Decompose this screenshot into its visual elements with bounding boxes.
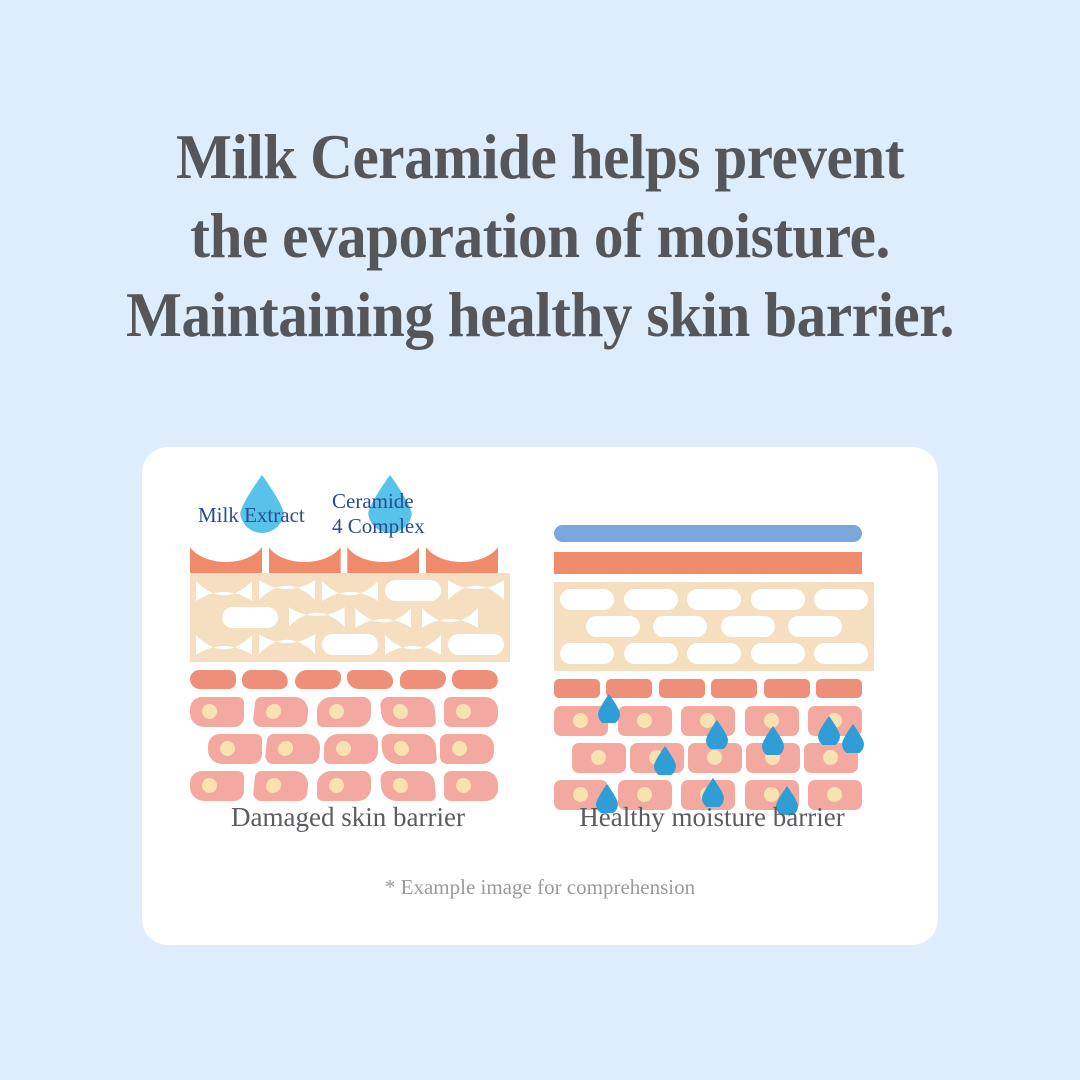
granular-cell — [422, 607, 478, 628]
granular-cell — [385, 634, 441, 655]
basal-cell — [252, 771, 309, 801]
cell-nucleus — [220, 741, 235, 756]
cell-nucleus — [700, 713, 715, 728]
ingredient-label-ceramide-line2: 4 Complex — [332, 514, 425, 538]
footnote-text: * Example image for comprehension — [142, 875, 938, 900]
basal-row — [554, 743, 862, 773]
spinous-cell — [242, 670, 290, 689]
ingredient-ceramide-4-complex: Ceramide 4 Complex — [330, 467, 480, 553]
cell-nucleus — [277, 741, 294, 756]
granular-cell — [322, 634, 378, 655]
granular-cell — [687, 643, 741, 664]
basal-cell — [252, 697, 309, 727]
basal-layer-healthy — [554, 706, 862, 810]
cell-nucleus — [764, 787, 779, 802]
granular-cell — [721, 616, 775, 637]
basal-cell — [381, 734, 438, 764]
basal-cell — [317, 771, 371, 801]
spinous-layer-damaged — [190, 670, 498, 689]
cell-nucleus — [764, 713, 779, 728]
granular-cell — [222, 607, 278, 628]
granular-cell — [814, 589, 868, 610]
basal-cell — [208, 734, 262, 764]
basal-cell — [190, 697, 244, 727]
basal-cell — [264, 734, 321, 764]
granular-cell — [560, 643, 614, 664]
spinous-cell — [347, 670, 394, 689]
cell-nucleus — [329, 704, 344, 719]
basal-cell — [572, 743, 626, 773]
diagram-card: Milk Extract Ceramide 4 Complex — [142, 447, 938, 945]
granular-cell — [196, 580, 252, 601]
granular-cell — [788, 616, 842, 637]
cell-nucleus — [265, 778, 282, 793]
spinous-layer-healthy — [554, 679, 862, 698]
panel-healthy-skin: Healthy moisture barrier — [542, 447, 882, 945]
stratum-corneum-intact — [554, 552, 862, 574]
granular-row — [560, 616, 868, 637]
granular-cell — [624, 643, 678, 664]
protective-moisture-cap — [554, 525, 862, 542]
skin-cross-section-healthy — [554, 525, 862, 817]
cell-nucleus — [336, 741, 351, 756]
headline-line-1: Milk Ceramide helps prevent — [32, 118, 1047, 197]
cell-nucleus — [202, 704, 217, 719]
basal-cell — [324, 734, 378, 764]
ingredient-label-ceramide-line1: Ceramide — [332, 489, 414, 513]
granular-cell — [560, 589, 614, 610]
corneum-fragment — [347, 547, 419, 573]
basal-row — [190, 734, 498, 764]
granular-row — [196, 607, 504, 628]
basal-cell — [440, 734, 494, 764]
granular-cell — [385, 580, 441, 601]
ingredient-label-ceramide: Ceramide 4 Complex — [332, 489, 425, 539]
cell-nucleus — [573, 713, 588, 728]
cell-nucleus — [573, 787, 588, 802]
granular-row — [560, 643, 868, 664]
headline-line-3: Maintaining healthy skin barrier. — [32, 276, 1047, 355]
granular-cell — [448, 580, 504, 601]
cell-nucleus — [392, 704, 408, 719]
cell-nucleus — [392, 778, 408, 793]
granular-layer-healthy — [554, 582, 874, 671]
granular-row — [560, 589, 868, 610]
spinous-cell — [659, 679, 705, 698]
basal-cell — [190, 771, 244, 801]
cell-nucleus — [591, 750, 606, 765]
granular-cell — [687, 589, 741, 610]
granular-cell — [624, 589, 678, 610]
corneum-fragment — [190, 547, 262, 573]
spinous-cell — [554, 679, 600, 698]
cell-nucleus — [329, 778, 344, 793]
spinous-cell — [816, 679, 862, 698]
granular-row — [196, 580, 504, 601]
panel-damaged-skin: Milk Extract Ceramide 4 Complex — [178, 447, 518, 945]
spinous-cell — [400, 670, 446, 689]
cell-nucleus — [827, 787, 842, 802]
basal-cell — [444, 771, 498, 801]
granular-cell — [751, 589, 805, 610]
granular-cell — [448, 634, 504, 655]
spinous-cell — [711, 679, 757, 698]
basal-cell — [317, 697, 371, 727]
basal-cell — [444, 697, 498, 727]
granular-cell — [586, 616, 640, 637]
skin-cross-section-damaged — [190, 547, 498, 801]
stratum-corneum-broken — [190, 547, 498, 573]
ingredient-label-milk-extract: Milk Extract — [198, 503, 305, 528]
spinous-cell — [295, 670, 341, 689]
basal-cell — [379, 771, 436, 801]
corneum-fragment — [426, 547, 498, 573]
cell-nucleus — [707, 750, 722, 765]
granular-cell — [196, 634, 252, 655]
granular-cell — [751, 643, 805, 664]
granular-cell — [289, 607, 345, 628]
granular-cell — [653, 616, 707, 637]
basal-row — [190, 771, 498, 801]
corneum-fragment — [269, 547, 341, 573]
spinous-cell — [764, 679, 810, 698]
page-headline: Milk Ceramide helps prevent the evaporat… — [32, 118, 1047, 355]
cell-nucleus — [265, 704, 282, 719]
granular-row — [196, 634, 504, 655]
basal-row — [190, 697, 498, 727]
basal-cell — [379, 697, 436, 727]
cell-nucleus — [393, 741, 409, 756]
headline-line-2: the evaporation of moisture. — [32, 197, 1047, 276]
granular-cell — [814, 643, 868, 664]
spinous-cell — [451, 670, 499, 689]
granular-cell — [259, 580, 315, 601]
granular-cell — [259, 634, 315, 655]
cell-nucleus — [202, 778, 217, 793]
cell-nucleus — [456, 778, 471, 793]
granular-cell — [322, 580, 378, 601]
spinous-cell — [606, 679, 652, 698]
cell-nucleus — [452, 741, 467, 756]
cell-nucleus — [637, 713, 652, 728]
caption-healthy-moisture-barrier: Healthy moisture barrier — [542, 802, 882, 833]
basal-layer-damaged — [190, 697, 498, 801]
cell-nucleus — [456, 704, 471, 719]
granular-layer-damaged — [190, 573, 510, 662]
spinous-cell — [190, 670, 236, 689]
caption-damaged-skin-barrier: Damaged skin barrier — [178, 802, 518, 833]
basal-cell — [618, 706, 672, 736]
cell-nucleus — [637, 787, 652, 802]
basal-cell — [681, 706, 735, 736]
granular-cell — [355, 607, 411, 628]
water-droplet-icon — [598, 694, 620, 723]
cell-nucleus — [823, 750, 838, 765]
